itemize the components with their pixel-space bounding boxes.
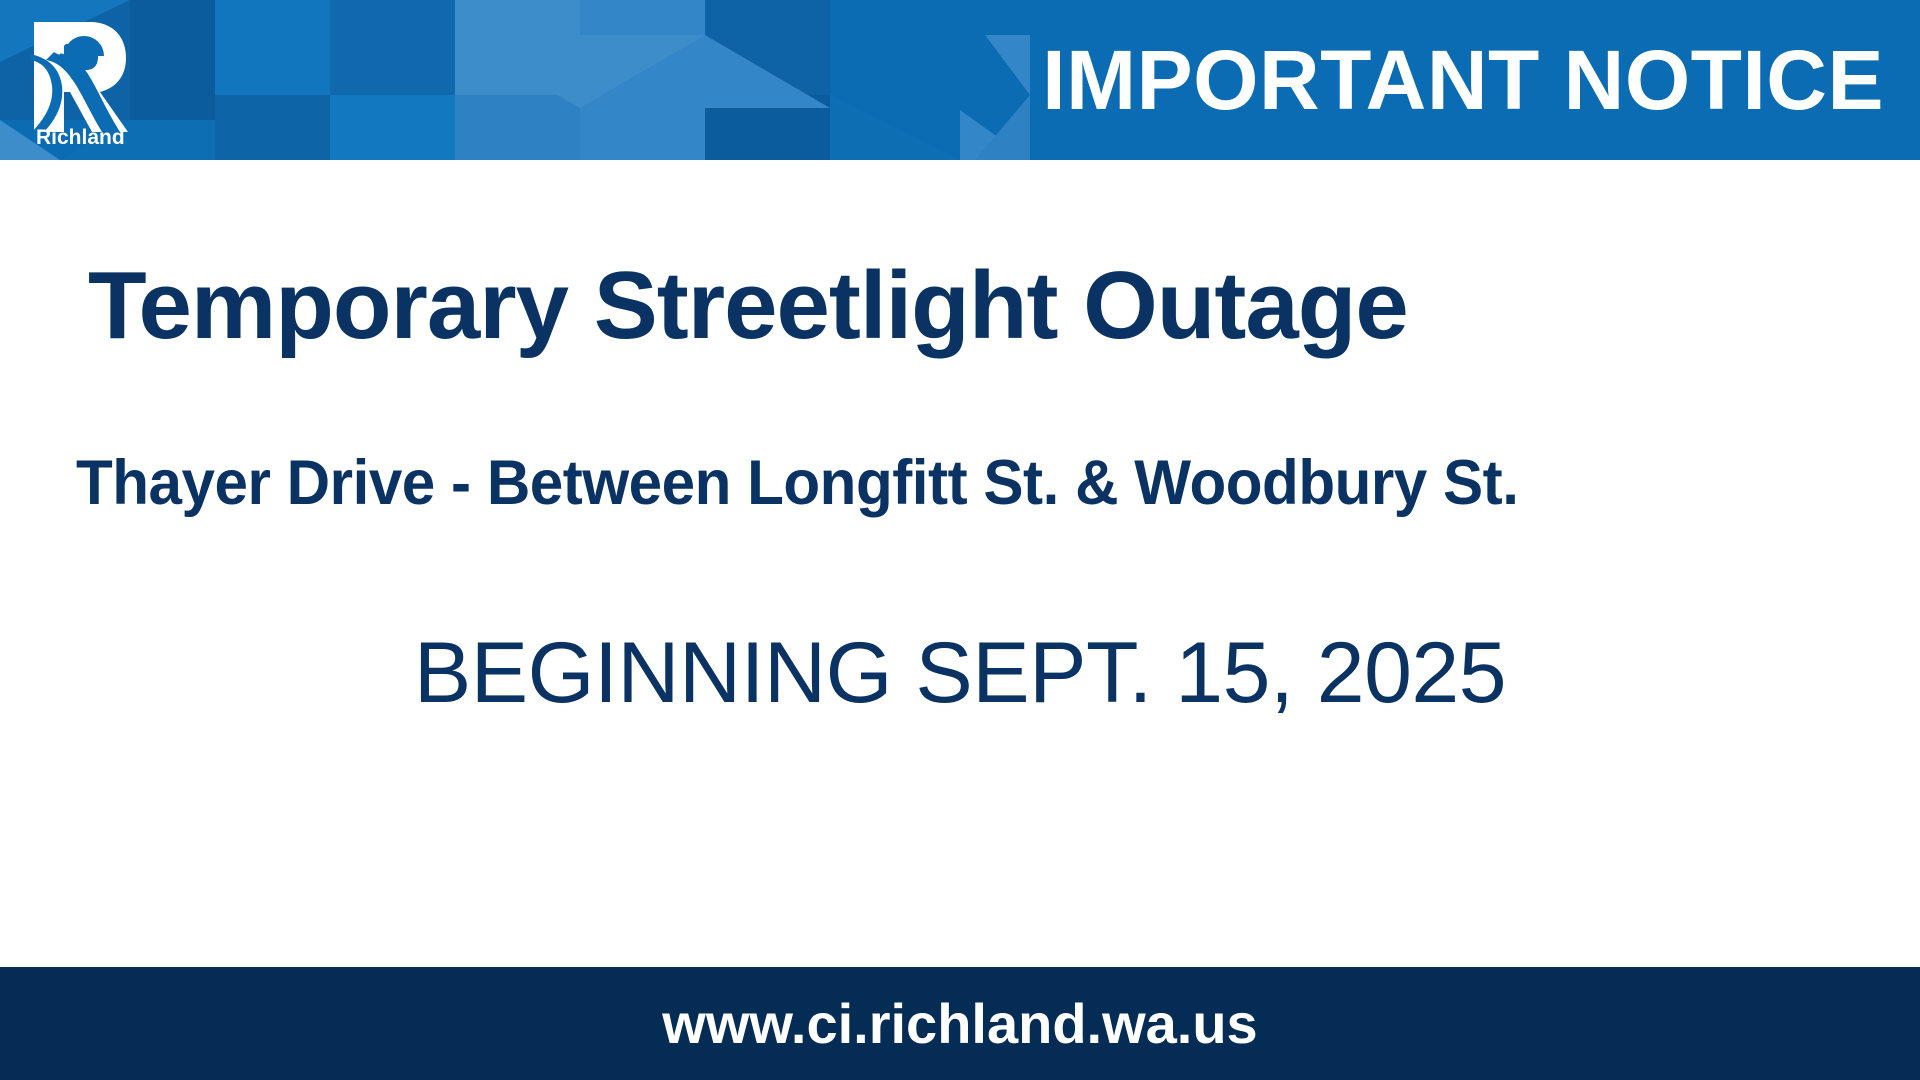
location-description: Thayer Drive - Between Longfitt St. & Wo… [76,452,1518,515]
footer-bar: www.ci.richland.wa.us [0,967,1920,1080]
logo-wordmark: Richland [36,126,125,146]
page-title: Temporary Streetlight Outage [88,258,1408,354]
website-url[interactable]: www.ci.richland.wa.us [662,996,1257,1052]
important-notice-poster: Richland IMPORTANT NOTICE Temporary Stre… [0,0,1920,1080]
notice-content: Temporary Streetlight Outage Thayer Driv… [0,160,1920,967]
geometric-triangle-pattern [0,0,1030,160]
important-notice-label: IMPORTANT NOTICE [1042,38,1884,122]
start-date-text: BEGINNING SEPT. 15, 2025 [414,630,1506,716]
header-banner: Richland IMPORTANT NOTICE [0,0,1920,160]
richland-city-logo[interactable]: Richland [24,14,132,146]
